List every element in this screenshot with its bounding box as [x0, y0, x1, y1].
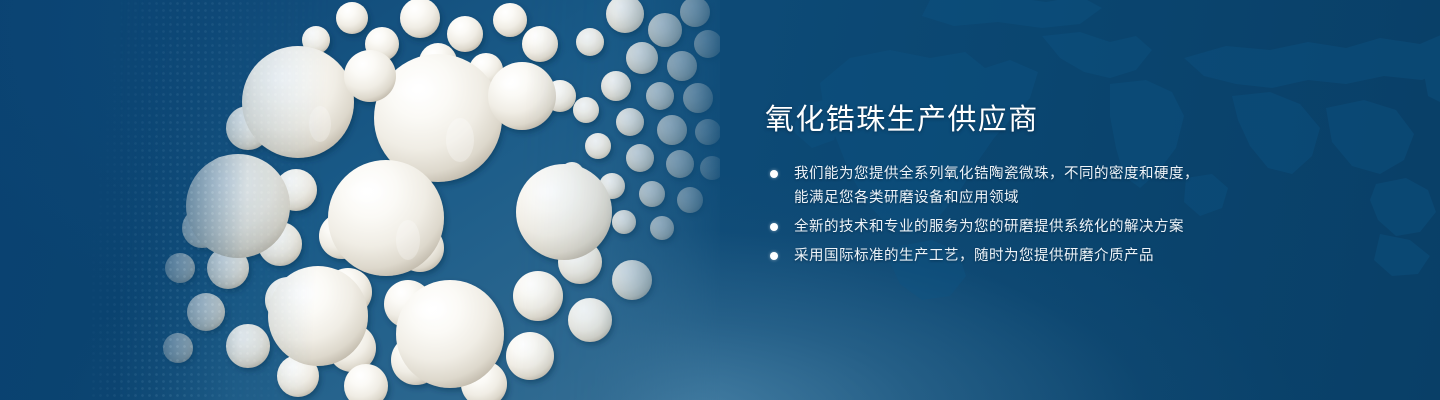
bullet-dot-icon — [770, 252, 778, 260]
banner-headline: 氧化锆珠生产供应商 — [765, 100, 1365, 140]
zirconia-beads-photo — [120, 0, 720, 400]
hero-banner: 氧化锆珠生产供应商 我们能为您提供全系列氧化锆陶瓷微珠，不同的密度和硬度， 能满… — [0, 0, 1440, 400]
feature-list: 我们能为您提供全系列氧化锆陶瓷微珠，不同的密度和硬度， 能满足您各类研磨设备和应… — [765, 162, 1365, 268]
feature-line: 我们能为您提供全系列氧化锆陶瓷微珠，不同的密度和硬度， — [794, 162, 1365, 186]
bullet-dot-icon — [770, 223, 778, 231]
feature-item: 全新的技术和专业的服务为您的研磨提供系统化的解决方案 — [765, 215, 1365, 239]
feature-line: 能满足您各类研磨设备和应用领域 — [794, 186, 1365, 210]
banner-text-block: 氧化锆珠生产供应商 我们能为您提供全系列氧化锆陶瓷微珠，不同的密度和硬度， 能满… — [765, 100, 1365, 268]
feature-line: 全新的技术和专业的服务为您的研磨提供系统化的解决方案 — [794, 215, 1365, 239]
bullet-dot-icon — [770, 170, 778, 178]
feature-item: 采用国际标准的生产工艺，随时为您提供研磨介质产品 — [765, 244, 1365, 268]
feature-line: 采用国际标准的生产工艺，随时为您提供研磨介质产品 — [794, 244, 1365, 268]
feature-item: 我们能为您提供全系列氧化锆陶瓷微珠，不同的密度和硬度， 能满足您各类研磨设备和应… — [765, 162, 1365, 210]
